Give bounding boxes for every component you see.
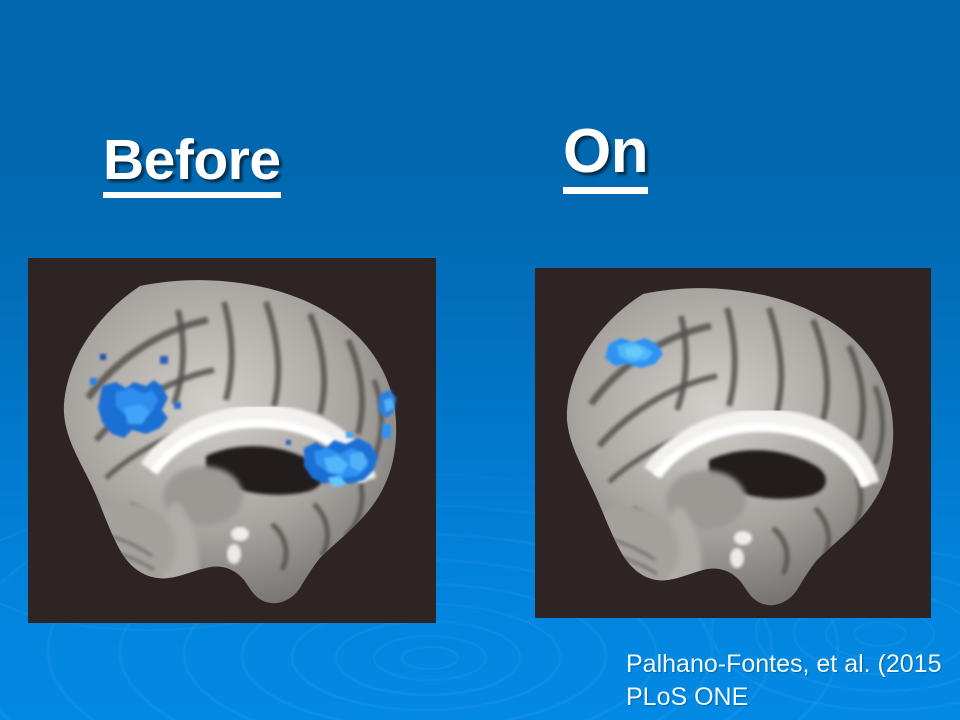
brain-scan-on	[535, 268, 931, 618]
citation: Palhano-Fontes, et al. (2015 PLoS ONE	[626, 648, 960, 714]
panel-title-before-line1: Before	[103, 130, 281, 199]
panel-title-on-line1: On	[563, 119, 648, 194]
brain-scan-before	[28, 258, 436, 623]
citation-line-2: PLoS ONE	[626, 681, 960, 714]
presentation-slide: Before ayahuasca On ayahuasca	[0, 0, 960, 720]
citation-line-1: Palhano-Fontes, et al. (2015	[626, 648, 960, 681]
